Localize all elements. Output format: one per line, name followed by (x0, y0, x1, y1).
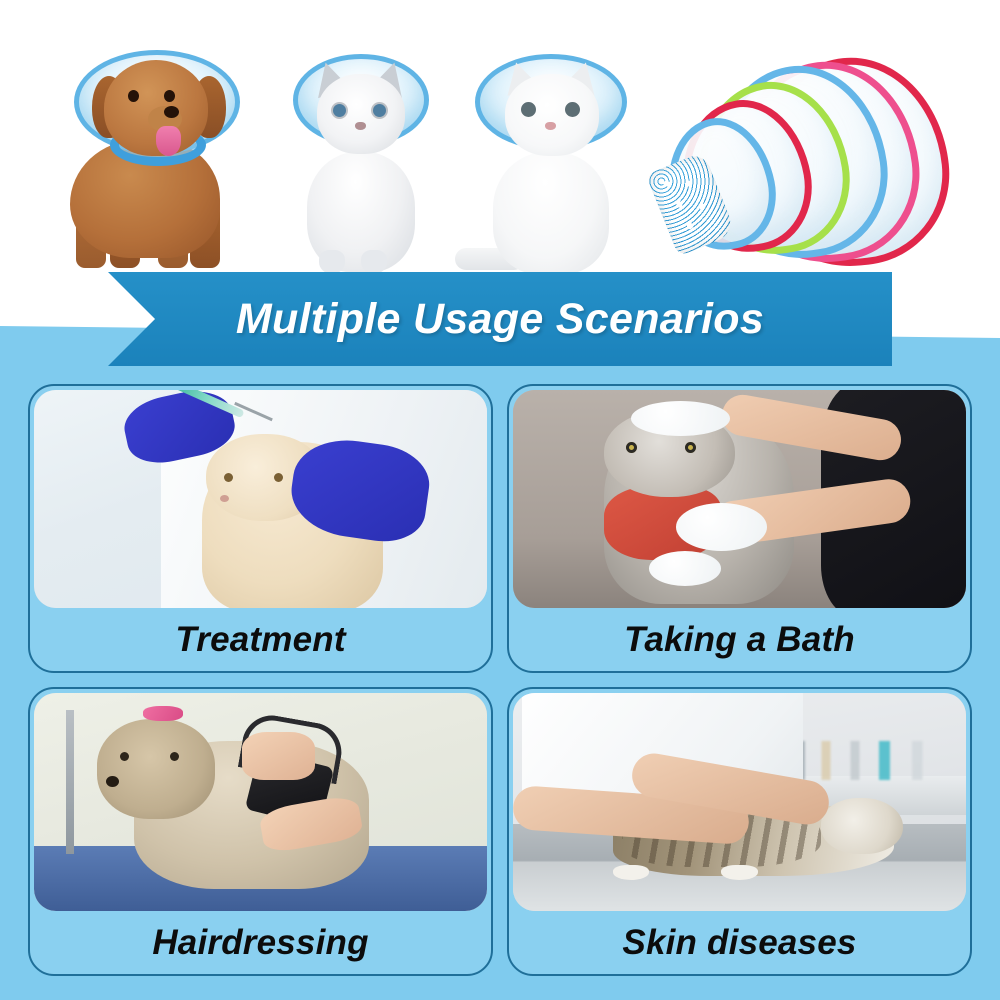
dog-nose (164, 106, 179, 118)
kitten-eye (274, 473, 283, 482)
scenario-photo-skin-diseases (513, 693, 966, 911)
scenario-card-taking-a-bath[interactable]: Taking a Bath (507, 384, 972, 673)
scenario-photo-treatment (34, 390, 487, 608)
white-cat-illustration (461, 32, 641, 282)
dog-eye (128, 90, 139, 102)
scenario-label-skin-diseases: Skin diseases (509, 911, 970, 974)
cat-eye (521, 102, 536, 117)
yorkie-eye (170, 752, 179, 761)
hero-item-white-cat-with-cone (461, 32, 641, 282)
dog-tongue (156, 126, 181, 156)
hero-product-row (0, 0, 1000, 300)
cat-nose (545, 122, 556, 130)
cat-head (505, 74, 599, 156)
cat-eye (565, 102, 580, 117)
scenario-label-treatment: Treatment (30, 608, 491, 671)
hero-item-kitten-with-cone (281, 34, 441, 282)
scenario-photo-taking-a-bath (513, 390, 966, 608)
banner-ribbon: Multiple Usage Scenarios (0, 272, 1000, 370)
cone-stack-illustration (660, 52, 960, 282)
infographic-page: Multiple Usage Scenarios T (0, 0, 1000, 1000)
kitten-paw (361, 250, 387, 274)
grooming-arm-pole (66, 710, 74, 854)
scenario-grid: Treatment Taki (28, 384, 972, 976)
tabby-cat-head (821, 798, 903, 855)
scenario-photo-hairdressing (34, 693, 487, 911)
scenario-label-hairdressing: Hairdressing (30, 911, 491, 974)
skin-diseases-scene-illustration (513, 693, 966, 911)
scenario-card-treatment[interactable]: Treatment (28, 384, 493, 673)
hero-item-dog-with-cone (52, 32, 262, 282)
scenario-card-skin-diseases[interactable]: Skin diseases (507, 687, 972, 976)
kitten-nose (220, 495, 229, 502)
hero-item-product-cone-stack (660, 52, 960, 282)
banner-title: Multiple Usage Scenarios (236, 295, 764, 344)
scenario-card-hairdressing[interactable]: Hairdressing (28, 687, 493, 976)
ribbon-shape: Multiple Usage Scenarios (108, 272, 892, 366)
scenario-label-taking-a-bath: Taking a Bath (509, 608, 970, 671)
groomer-hand (242, 732, 314, 780)
pink-bow-icon (143, 706, 184, 721)
dog-illustration (52, 32, 262, 282)
yorkie-head (97, 719, 215, 819)
cat-body (493, 152, 609, 274)
soap-foam (676, 503, 767, 551)
treatment-scene-illustration (34, 390, 487, 608)
dog-eye (164, 90, 175, 102)
hairdressing-scene-illustration (34, 693, 487, 911)
kitten-illustration (281, 34, 441, 282)
yorkie-eye (120, 752, 129, 761)
bath-scene-illustration (513, 390, 966, 608)
soap-foam (631, 401, 731, 436)
kitten-head (317, 74, 405, 154)
